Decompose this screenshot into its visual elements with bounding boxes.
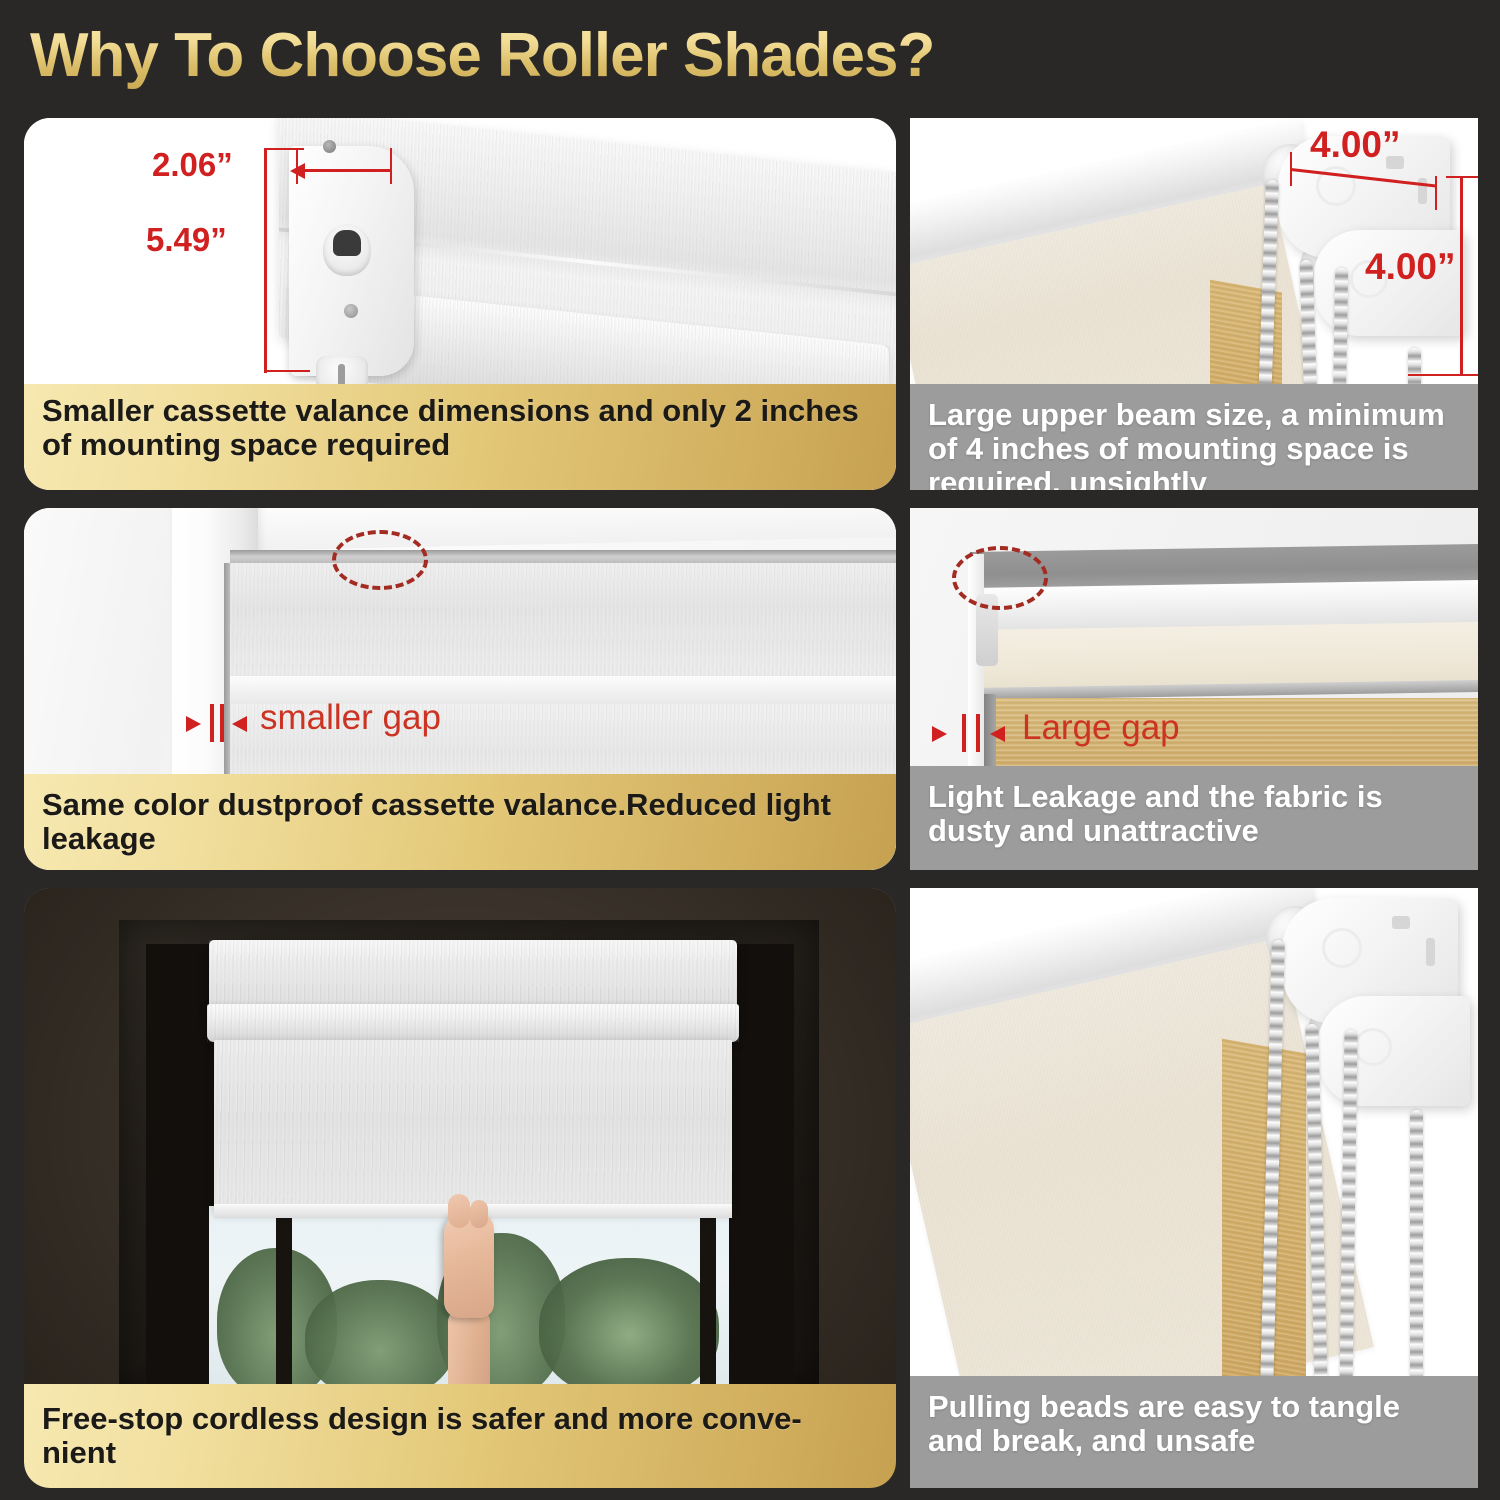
valance-lip [207,1004,739,1042]
panel-large-upper-beam: 4.00” 4.00” Large upper beam size, a min… [910,118,1478,490]
dimension-extension-line [264,148,304,150]
tree-shape [539,1258,719,1388]
panel-caption-4: Light Leakage and the fabric is dusty an… [910,766,1478,870]
shade-headrail [230,550,896,563]
gap-label-smaller: smaller gap [260,698,441,738]
panel-smaller-gap: smaller gap Same color dustproof cassett… [24,508,896,870]
tree-shape [305,1280,455,1388]
page-title: Why To Choose Roller Shades? [30,20,934,91]
hand-shape [444,1210,494,1318]
gap-marker-line [220,704,224,742]
panel-pulling-beads: Pulling beads are easy to tangle and bre… [910,888,1478,1488]
side-gap [224,563,230,803]
dimension-extension-line [264,370,310,372]
gap-marker-line [976,714,980,752]
product-photo-bead-chains: Pulling beads are easy to tangle and bre… [910,888,1478,1488]
bracket-slot [1426,938,1435,966]
mounting-bracket-lower [1318,996,1470,1106]
mechanism-knob [323,224,371,276]
fabric-texture [209,940,737,1008]
dimension-line-width [302,169,390,172]
shade-upper-panel [230,563,896,676]
page-header: Why To Choose Roller Shades? [0,0,1500,110]
dimension-extension-line [390,148,392,184]
arrow-left-icon [232,716,247,732]
dimension-extension-line [1446,176,1478,178]
window-mullion [700,1206,716,1388]
product-photo-beige-gap: Large gap Light Leakage and the fabric i… [910,508,1478,870]
fabric-texture [207,1004,739,1042]
panel-caption-1: Smaller cassette valance dimensions and … [24,384,896,490]
panel-caption-5: Free-stop cordless design is safer and m… [24,1384,896,1488]
gap-label-large: Large gap [1022,708,1180,748]
dimension-line-height [1460,176,1463,376]
gap-marker-line [962,714,966,752]
valance-end-cap [289,146,414,376]
screw-icon [344,304,358,318]
shade-fabric [214,1040,732,1212]
fabric-texture [230,563,896,676]
dimension-extension-line [1435,176,1437,210]
dimension-line-height [264,148,267,373]
bracket-embossing [1354,1028,1392,1066]
panel-caption-2: Large upper beam size, a minimum of 4 in… [910,384,1478,490]
dimension-label-549: 5.49” [146,221,227,259]
bead-chain [1410,1110,1423,1390]
arrow-right-icon [186,716,201,732]
panel-large-gap: Large gap Light Leakage and the fabric i… [910,508,1478,870]
cassette-valance [209,940,737,1008]
gap-marker-line [210,704,214,742]
panel-cordless-design: Free-stop cordless design is safer and m… [24,888,896,1488]
bracket-slot [1392,916,1410,929]
panel-caption-6: Pulling beads are easy to tangle and bre… [910,1376,1478,1488]
fabric-texture [214,1040,732,1212]
panel-caption-3: Same color dustproof cassette valance.Re… [24,774,896,870]
product-photo-white-window: smaller gap Same color dustproof cassett… [24,508,896,870]
bracket-embossing [1322,928,1362,968]
product-photo-cassette-valance: 2.06” 5.49” Smaller cassette valance dim… [24,118,896,490]
product-photo-large-beam: 4.00” 4.00” Large upper beam size, a min… [910,118,1478,490]
window-mullion [276,1206,292,1388]
dimension-label-206: 2.06” [152,146,233,184]
arrow-left-icon [290,163,305,179]
dimension-label-400-height: 4.00” [1365,246,1456,288]
highlight-circle-icon [952,546,1048,610]
arrow-right-icon [932,726,947,742]
highlight-circle-icon [332,530,428,590]
dimension-extension-line [1408,374,1478,376]
comparison-grid: 2.06” 5.49” Smaller cassette valance dim… [0,110,1500,1500]
arrow-left-icon [990,726,1005,742]
panel-cassette-dimensions: 2.06” 5.49” Smaller cassette valance dim… [24,118,896,490]
dimension-label-400-width: 4.00” [1310,124,1401,166]
lifestyle-photo-window: Free-stop cordless design is safer and m… [24,888,896,1488]
screw-icon [323,140,336,153]
